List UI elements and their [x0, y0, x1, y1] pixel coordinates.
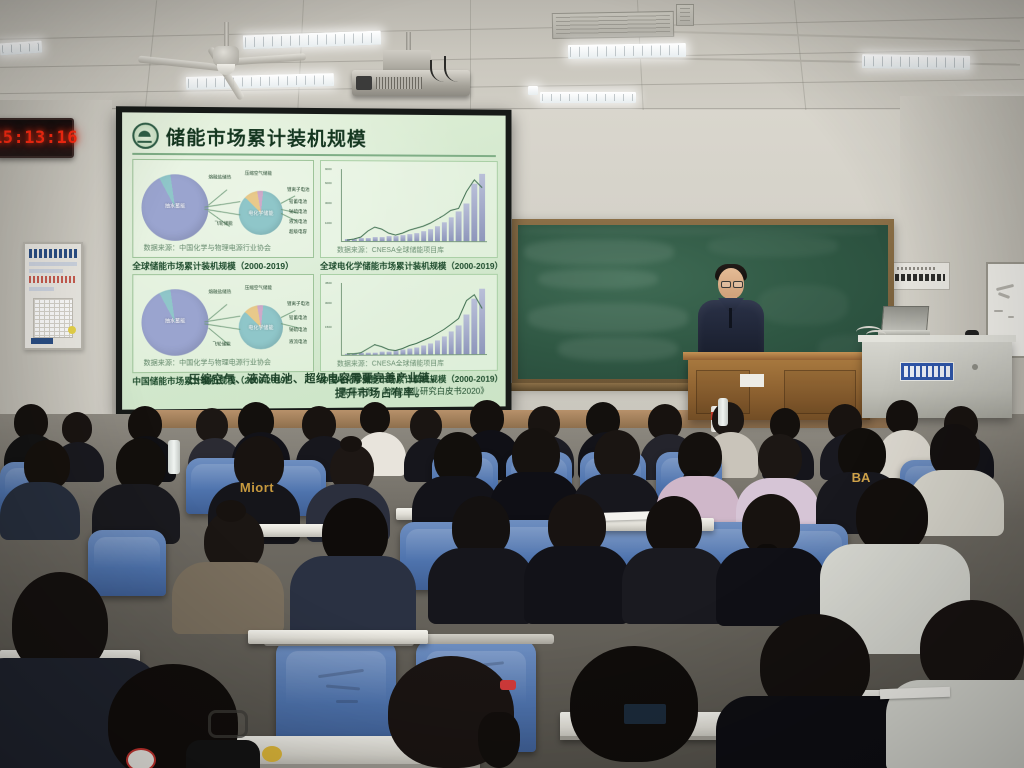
pie-source-note: 数据来源：中国化学与物理电源行业协会: [144, 357, 271, 368]
notice-footer: [31, 338, 53, 344]
panel-caption-global-pie: 全球储能市场累计装机规模（2000-2019）: [132, 260, 293, 272]
student-torso: [622, 548, 726, 624]
bar-source-note: 数据来源：CNESA全球储能项目库: [337, 358, 444, 369]
pie-outer-label: 压缩空气储能: [245, 285, 272, 291]
pie-outer-label: 飞轮储能: [215, 221, 233, 227]
trend-line: [321, 161, 497, 257]
student-head: [856, 478, 928, 554]
ceiling-fan-motor: [213, 46, 239, 66]
trend-line: [321, 275, 497, 371]
ceiling-light-panel: [568, 43, 686, 59]
chart-panel-global-bar: 9000 6000 3000 1000: [320, 160, 498, 258]
pie-outer-label: 钠硫电池: [289, 327, 307, 333]
pie-sub-label: 电化学储能: [241, 210, 281, 217]
slide-header: 储能市场累计装机规模: [132, 121, 496, 154]
pie-main-label: 抽水蓄能: [152, 202, 199, 209]
ac-vent: [676, 4, 694, 26]
ceiling-light-panel: [540, 92, 636, 103]
pie-outer-label: 飞轮储能: [213, 341, 231, 347]
lecture-hall-photo: 15:13:16: [0, 0, 1024, 768]
glasses-icon: [733, 281, 743, 288]
student-head: [758, 434, 802, 482]
projector-lens-icon: [356, 76, 372, 90]
sign-text: [889, 274, 945, 281]
podium-paper: [740, 374, 764, 387]
ponytail: [478, 712, 520, 768]
water-bottle: [168, 440, 180, 474]
notice-highlight-text: [29, 276, 77, 283]
keychain-icon: [262, 746, 282, 762]
pie-main-label: 抽水蓄能: [152, 317, 199, 324]
pie-outer-label: 熔融盐储热: [208, 174, 231, 180]
ceiling-light-panel: [528, 86, 538, 95]
notice-title-bar: [29, 249, 77, 258]
wall-notice-board[interactable]: [23, 242, 83, 350]
student-torso: [172, 562, 284, 634]
desk-item: [126, 748, 156, 768]
chart-panel-global-pie: 抽水蓄能 电化学储能 熔融盐储热 压缩空气储能 飞轮储能 锂离子电池 铅蓄电池 …: [132, 159, 314, 258]
glasses-icon: [208, 710, 248, 738]
seat-graffiti: [336, 700, 358, 703]
university-emblem-icon: [132, 123, 158, 149]
ac-vent: [552, 11, 674, 39]
ceiling-light-panel: [862, 54, 970, 70]
ceiling-light-panel: [186, 73, 334, 90]
podium-top-surface: [683, 352, 875, 360]
phone-icon[interactable]: [624, 704, 666, 724]
pie-outer-label: 锂离子电池: [287, 301, 310, 307]
pie-outer-label: 液流电池: [289, 219, 307, 225]
ceiling-fan-rod: [224, 22, 229, 48]
hair-bun: [216, 500, 246, 522]
pie-outer-label: 钠硫电池: [289, 209, 307, 215]
wall-led-clock: 15:13:16: [0, 118, 74, 158]
projection-screen: 储能市场累计装机规模 抽水蓄能 电化学储能 熔融盐储热 压缩空气储能 飞轮储能 …: [116, 106, 512, 416]
paper-sheet: [604, 511, 650, 521]
pie-outer-label: 熔融盐储热: [208, 289, 231, 295]
student-torso: [524, 546, 630, 624]
console-lock-icon[interactable]: [972, 364, 978, 370]
pie-outer-label: 压缩空气储能: [245, 171, 272, 177]
polo-placket: [729, 308, 732, 328]
shirt-text: Miort: [222, 480, 292, 495]
hair-bun: [340, 436, 362, 452]
pie-sub-label: 电化学储能: [241, 324, 281, 331]
projector-vent: [376, 77, 422, 89]
presentation-slide: 储能市场累计装机规模 抽水蓄能 电化学储能 熔融盐储热 压缩空气储能 飞轮储能 …: [122, 112, 506, 409]
notice-table: [33, 298, 73, 338]
pie-outer-label: 超级电容: [289, 229, 307, 235]
chart-panel-china-pie: 抽水蓄能 电化学储能 熔融盐储热 压缩空气储能 飞轮储能 锂离子电池 铅蓄电池 …: [132, 274, 314, 373]
ceiling: [0, 0, 1024, 118]
student-torso: [0, 482, 80, 540]
sign-subtitle: [897, 267, 937, 270]
student-torso: [428, 548, 534, 624]
pie-outer-label: 铅蓄电池: [289, 199, 307, 205]
chart-panel-china-bar: 4500 3000 1500: [320, 274, 498, 372]
student-head: [594, 430, 640, 480]
bar-source-note: 数据来源：CNESA全球储能项目库: [337, 245, 444, 255]
console-label: [900, 362, 954, 381]
pie-outer-label: 液流电池: [289, 339, 307, 345]
clock-time-text: 15:13:16: [0, 128, 78, 148]
ceiling-light-panel: [0, 41, 42, 56]
student-torso: [290, 556, 416, 640]
ceiling-fan-light: [217, 64, 235, 75]
student-desk: [248, 630, 428, 644]
slide-title: 储能市场累计装机规模: [166, 122, 367, 151]
pie-outer-label: 铅蓄电池: [289, 315, 307, 321]
glasses-icon: [721, 281, 731, 288]
pie-source-note: 数据来源：中国化学与物理电源行业协会: [144, 243, 271, 253]
backpack: [186, 740, 260, 768]
student-head: [646, 496, 702, 556]
hair-clip-icon: [500, 680, 516, 690]
pie-outer-label: 锂离子电池: [287, 187, 310, 193]
student-head: [886, 400, 918, 434]
water-bottle: [718, 398, 728, 426]
panel-caption-global-bar: 全球电化学储能市场累计装机规模（2000-2019）: [320, 260, 503, 272]
console-cable: [866, 330, 886, 340]
notice-seal-icon: [68, 326, 76, 334]
lecture-seat[interactable]: [88, 530, 166, 596]
